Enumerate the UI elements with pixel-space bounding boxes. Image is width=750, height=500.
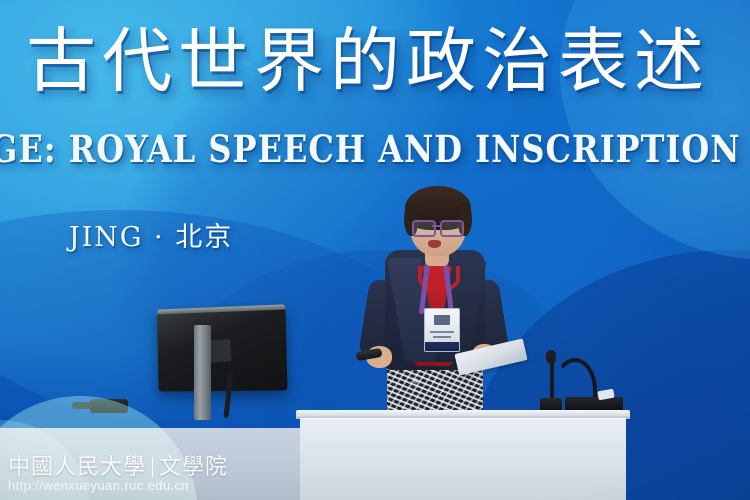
speaker-glasses-lens-right xyxy=(440,220,464,237)
photo-scene: 古代世界的政治表述 GE: ROYAL SPEECH AND INSCRIPTI… xyxy=(0,0,750,500)
banner-title-english: GE: ROYAL SPEECH AND INSCRIPTION IN xyxy=(0,130,750,168)
speaker-mouth xyxy=(428,240,441,248)
watermark-url: http://wenxueyuan.ruc.edu.cn xyxy=(8,478,189,493)
watermark-divider xyxy=(152,457,153,477)
speaker-person xyxy=(352,188,532,418)
table-front-panel xyxy=(300,418,626,500)
badge-footer-band xyxy=(425,342,459,351)
microphone-head xyxy=(546,350,556,364)
speaker-glasses-lens-left xyxy=(412,220,436,237)
watermark-university-name: 中國人民大學 xyxy=(8,455,146,480)
banner-title-chinese: 古代世界的政治表述 xyxy=(0,26,750,96)
watermark-department-name: 文學院 xyxy=(159,455,228,480)
monitor-stand xyxy=(194,325,211,420)
badge-crest-icon xyxy=(434,315,450,325)
watermark-organization: 中國人民大學文學院 xyxy=(8,449,228,481)
badge-text-line xyxy=(430,331,454,333)
speaker-name-badge xyxy=(424,308,460,352)
badge-text-line xyxy=(433,336,451,338)
speaker-glasses-bridge xyxy=(432,225,440,227)
